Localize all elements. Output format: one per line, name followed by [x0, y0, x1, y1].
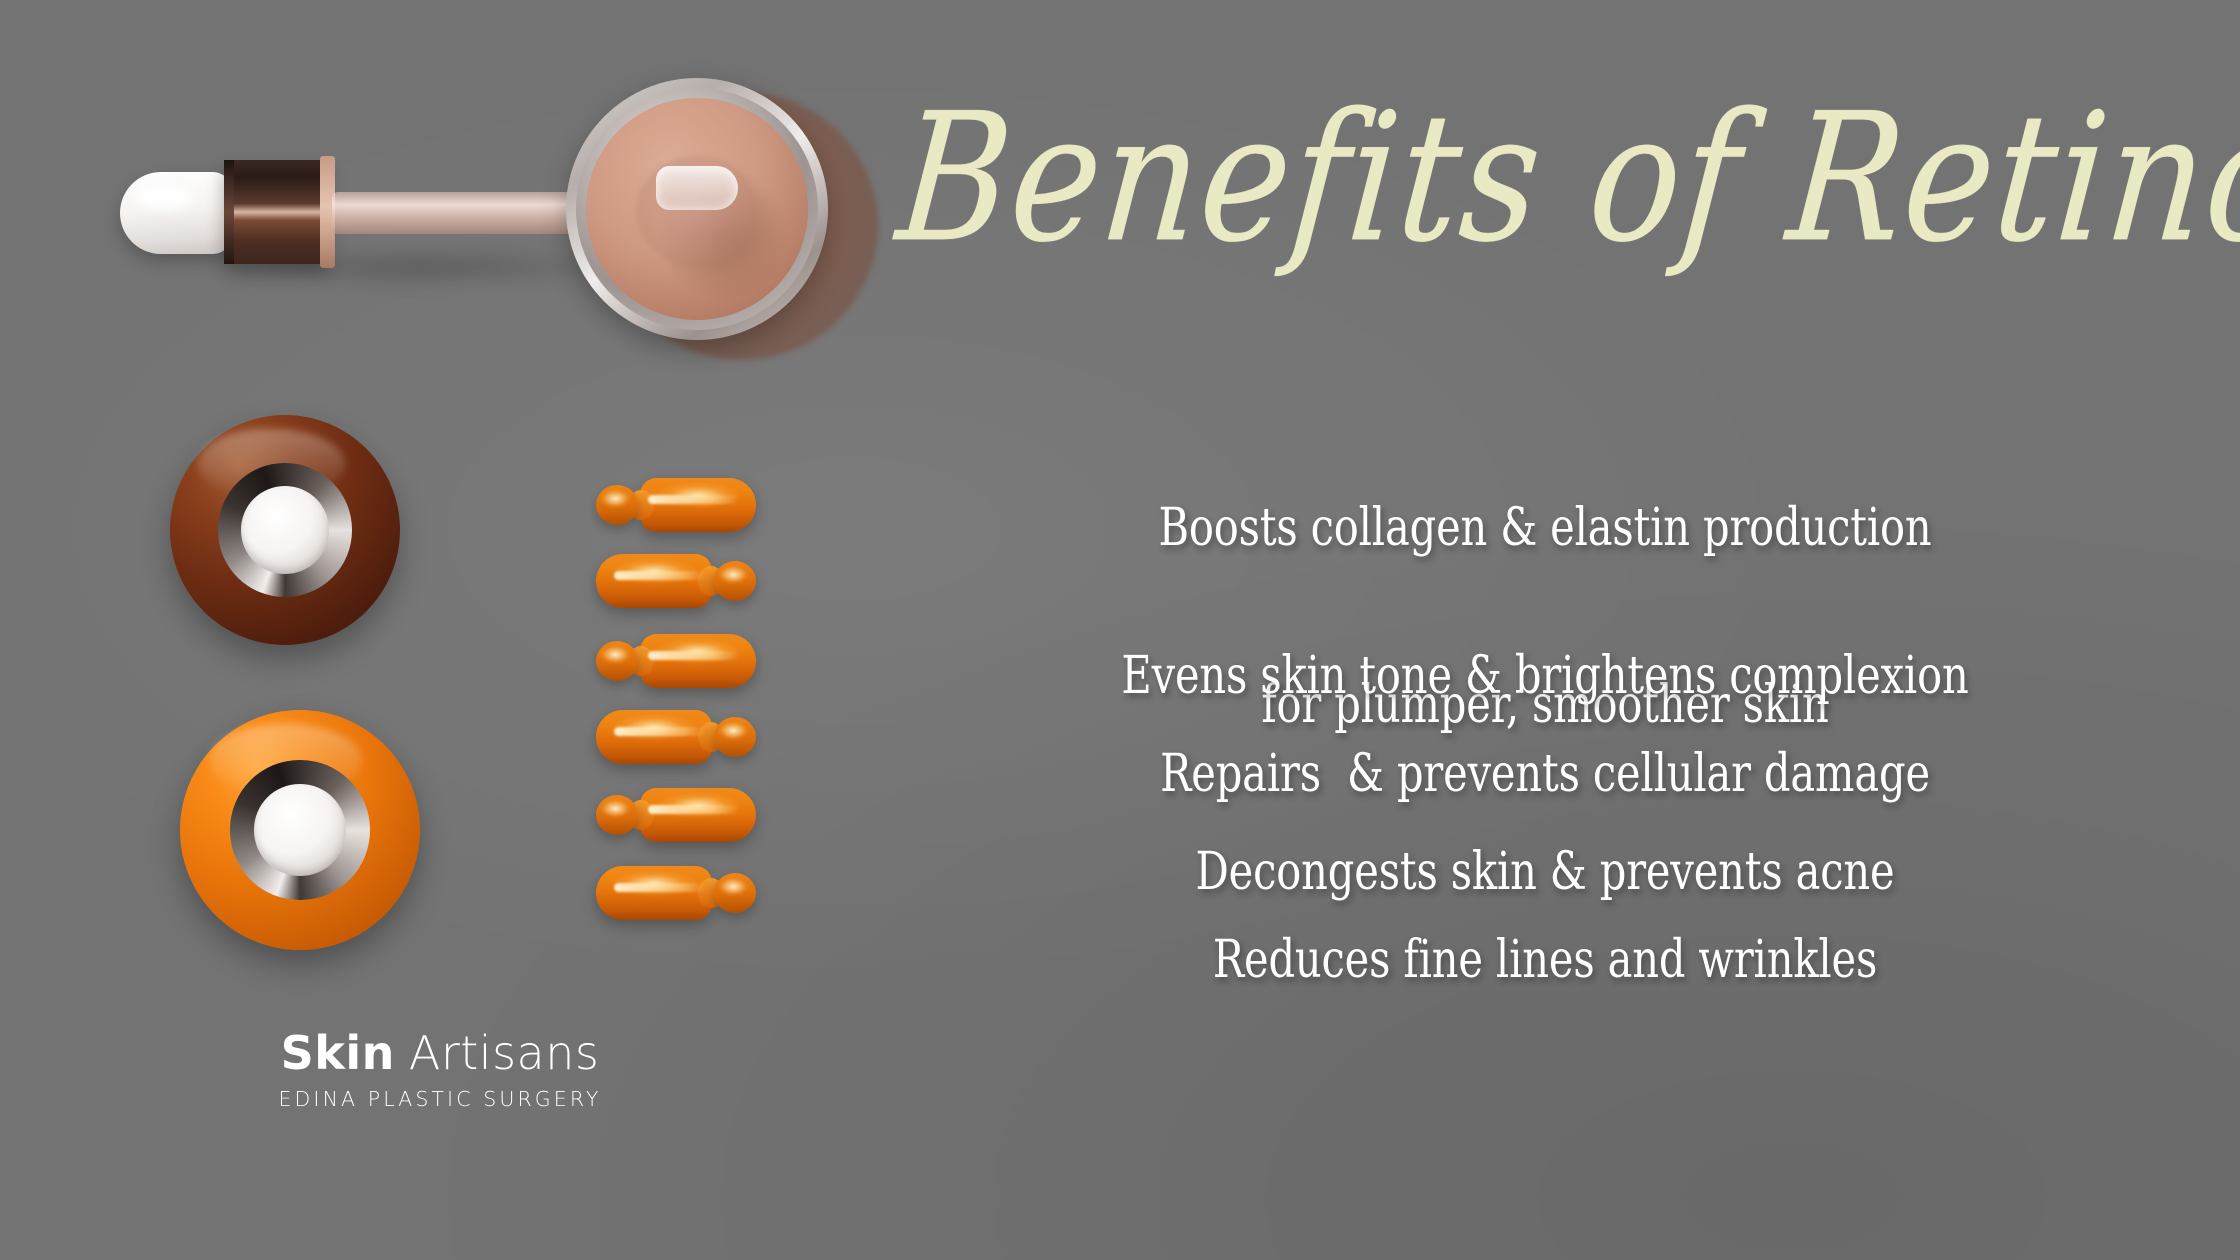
capsule-highlight [648, 495, 740, 504]
logo-word-skin: Skin [281, 1026, 395, 1080]
brand-logo: SkinArtisans EDINA PLASTIC SURGERY [180, 1030, 700, 1111]
capsule-tip-icon [596, 641, 638, 681]
capsule-tip-icon [596, 485, 638, 525]
capsule-tip-icon [714, 717, 756, 757]
capsule-body-icon [640, 788, 756, 842]
capsule-item [596, 710, 756, 764]
logo-word-artisans: Artisans [409, 1026, 599, 1080]
dark-amber-bottle-image [170, 415, 400, 645]
infographic-canvas: Benefits of Retinol Boosts collagen & el… [0, 0, 2240, 1260]
logo-wordmark: SkinArtisans [180, 1030, 700, 1076]
capsule-highlight [614, 727, 706, 736]
bottle-bulb-icon [254, 784, 345, 875]
capsule-item [596, 788, 756, 842]
capsule-item [596, 866, 756, 920]
capsule-highlight [648, 651, 740, 660]
benefit-line: Reduces fine lines and wrinkles [1029, 931, 2061, 990]
capsule-body-icon [596, 554, 712, 608]
capsule-highlight [614, 571, 706, 580]
capsule-item [596, 554, 756, 608]
capsule-highlight [614, 883, 706, 892]
capsule-body-icon [640, 478, 756, 532]
capsule-body-icon [596, 710, 712, 764]
orange-bottle-image [180, 710, 420, 950]
cream-jar-image [560, 70, 880, 380]
benefit-item: Reduces fine lines and wrinkles [1029, 812, 2061, 1108]
content-column: Benefits of Retinol Boosts collagen & el… [900, 0, 2190, 1260]
jar-dropper-tip-icon [656, 166, 738, 210]
capsule-item [596, 634, 756, 688]
capsule-highlight [648, 805, 740, 814]
dropper-tube-icon [332, 192, 594, 234]
logo-tagline: EDINA PLASTIC SURGERY [180, 1087, 700, 1111]
capsule-body-icon [640, 634, 756, 688]
serum-capsules-image [596, 478, 766, 948]
bottle-bulb-icon [241, 486, 328, 573]
capsule-tip-icon [714, 873, 756, 913]
dropper-collar-icon [224, 160, 328, 264]
capsule-body-icon [596, 866, 712, 920]
page-title: Benefits of Retinol [892, 91, 2198, 268]
capsule-tip-icon [596, 795, 638, 835]
capsule-tip-icon [714, 561, 756, 601]
capsule-item [596, 478, 756, 532]
dropper-bulb-icon [120, 172, 232, 254]
